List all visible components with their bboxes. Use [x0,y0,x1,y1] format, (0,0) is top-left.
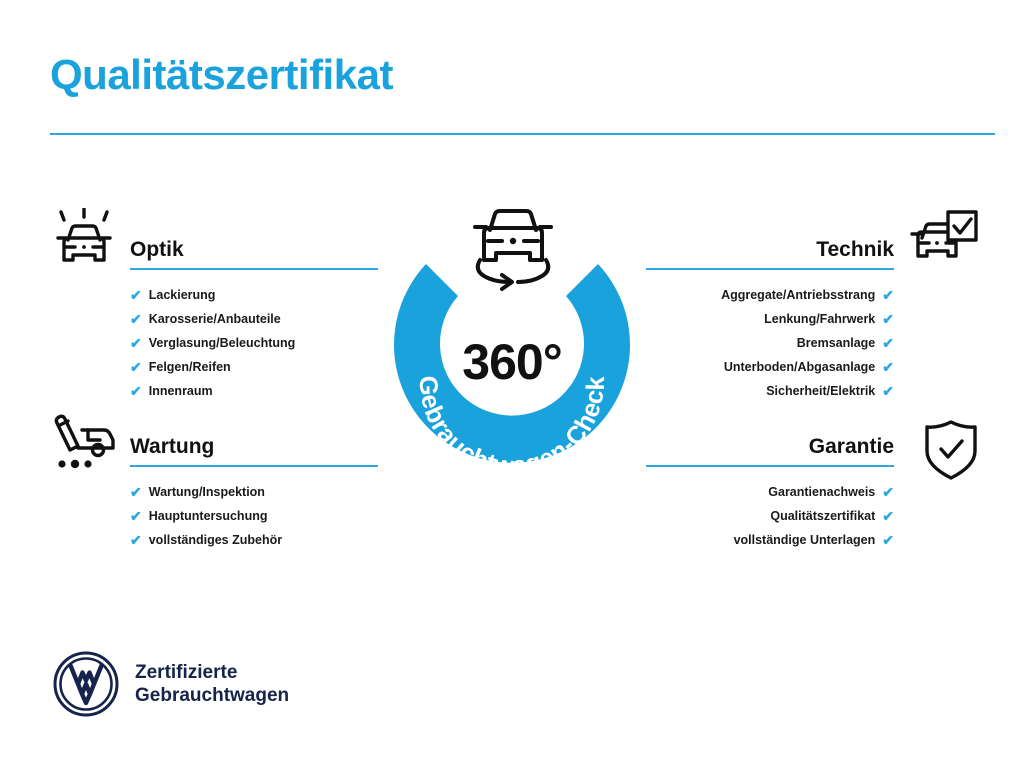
list-item-label: Wartung/Inspektion [149,486,265,499]
list-item-label: Lackierung [149,289,216,302]
check-icon: ✔ [130,533,142,547]
check-icon: ✔ [882,360,894,374]
check-icon: ✔ [882,533,894,547]
list-item-label: Felgen/Reifen [149,361,231,374]
list-item-label: Lenkung/Fahrwerk [764,313,875,326]
header-divider [50,133,995,135]
360-check-badge: Gebrauchtwagen-Check 360° [378,196,646,496]
check-icon: ✔ [130,509,142,523]
check-icon: ✔ [130,312,142,326]
list-item-label: Unterboden/Abgasanlage [724,361,875,374]
certificate-page: Qualitätszertifikat Optik ✔ Lackierung ✔ [0,0,1024,768]
section-optik-divider [130,268,378,270]
list-item-label: Innenraum [149,385,213,398]
section-wartung-divider [130,465,378,467]
car-checkbox-icon [908,208,980,274]
list-item-label: Sicherheit/Elektrik [766,385,875,398]
list-item: Qualitätszertifikat ✔ [594,504,894,528]
vw-lockup-text: Zertifizierte Gebrauchtwagen [135,661,289,707]
list-item-label: vollständige Unterlagen [734,534,876,547]
check-icon: ✔ [882,288,894,302]
vw-lockup-line1: Zertifizierte [135,661,289,684]
shield-check-icon [915,418,987,484]
list-item-label: vollständiges Zubehör [149,534,282,547]
check-icon: ✔ [882,312,894,326]
list-item: vollständige Unterlagen ✔ [594,528,894,552]
check-icon: ✔ [130,360,142,374]
list-item-label: Verglasung/Beleuchtung [149,337,296,350]
check-icon: ✔ [882,336,894,350]
list-item-label: Qualitätszertifikat [770,510,875,523]
badge-center-label: 360° [378,333,646,391]
check-icon: ✔ [130,288,142,302]
vw-certified-lockup: Zertifizierte Gebrauchtwagen [52,650,289,718]
list-item-label: Garantienachweis [768,486,875,499]
check-icon: ✔ [882,384,894,398]
section-garantie-divider [646,465,894,467]
list-item-label: Karosserie/Anbauteile [149,313,281,326]
check-icon: ✔ [130,384,142,398]
check-icon: ✔ [130,336,142,350]
car-rotation-icon [462,200,564,294]
list-item-label: Aggregate/Antriebsstrang [721,289,875,302]
car-service-tool-icon [48,412,120,478]
check-icon: ✔ [130,485,142,499]
list-item: ✔ Hauptuntersuchung [130,504,430,528]
list-item-label: Hauptuntersuchung [149,510,268,523]
check-icon: ✔ [882,485,894,499]
vw-logo-icon [52,650,120,718]
page-title: Qualitätszertifikat [50,52,393,98]
vw-lockup-line2: Gebrauchtwagen [135,684,289,707]
list-item: ✔ vollständiges Zubehör [130,528,430,552]
list-item-label: Bremsanlage [797,337,876,350]
check-icon: ✔ [882,509,894,523]
car-shine-icon [48,208,120,274]
section-technik-divider [646,268,894,270]
